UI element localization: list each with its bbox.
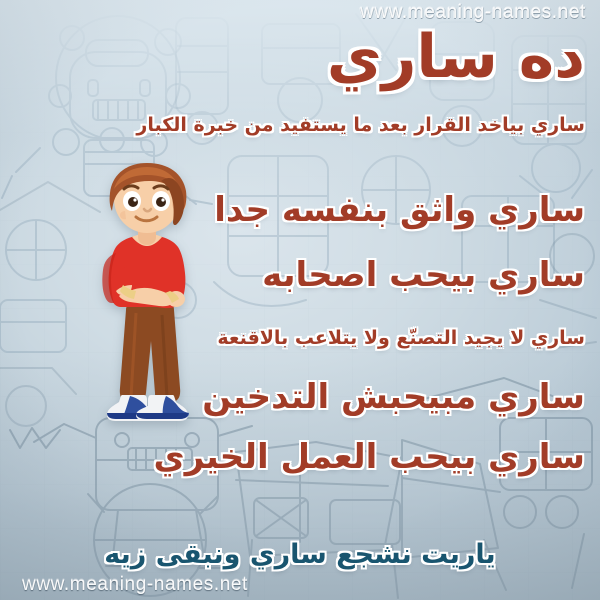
poster-line-6: ساري بيحب العمل الخيري	[154, 440, 585, 476]
poster-line-2: ساري واثق بنفسه جدا	[214, 193, 585, 229]
poster-title: ده ساري	[327, 26, 585, 89]
poster-line-5: ساري مبيحبش التدخين	[202, 380, 585, 416]
poster-line-4: ساري لا يجيد التصنّع ولا يتلاعب بالاقنعة	[217, 329, 585, 349]
poster-footer-line: ياريت نشجع ساري ونبقى زيه	[0, 539, 600, 570]
cartoon-boy-character	[78, 163, 218, 443]
poster-line-3: ساري بيحب اصحابه	[262, 258, 585, 294]
poster-card: ده ساري ساري بياخد القرار بعد ما يستفيد …	[0, 0, 600, 600]
watermark-top: www.meaning-names.net	[360, 2, 586, 24]
poster-line-1: ساري بياخد القرار بعد ما يستفيد من خبرة …	[136, 116, 585, 136]
watermark-bottom: www.meaning-names.net	[22, 574, 248, 596]
